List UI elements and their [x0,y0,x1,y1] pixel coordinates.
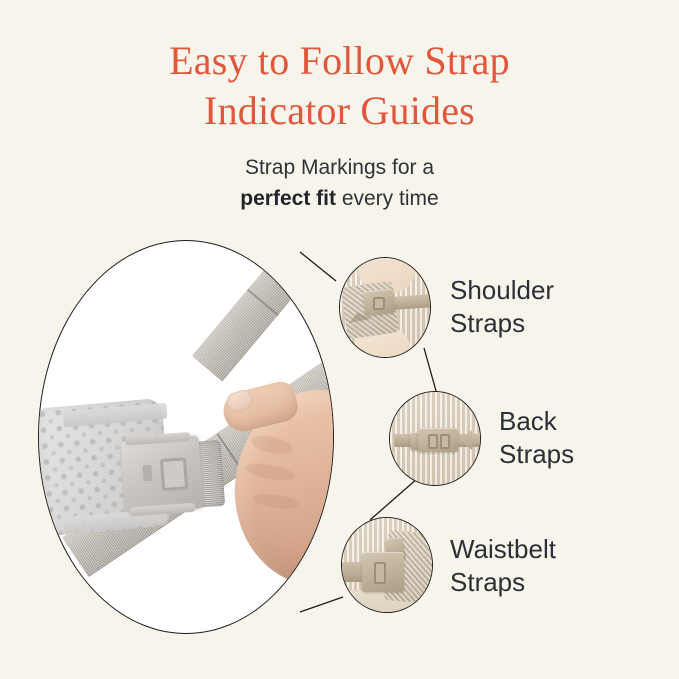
shoulder-detail-buckle-slot [373,297,385,310]
hero-product-photo [38,240,334,634]
callout-label-waistbelt-line1: Waistbelt [450,534,556,564]
page-subtitle-emphasis: perfect fit [240,187,336,210]
strap-webbing-upper [192,241,333,382]
side-release-buckle [121,434,204,513]
page-subtitle-line1: Strap Markings for a [245,156,434,179]
page-subtitle-line2-rest: every time [336,187,439,210]
callout-label-shoulder: Shoulder Straps [450,274,554,340]
page-title: Easy to Follow Strap Indicator Guides [0,36,679,136]
detail-circle-shoulder [339,257,431,358]
callout-label-back: Back Straps [499,405,574,471]
back-detail-buckle [418,428,458,452]
page-subtitle: Strap Markings for a perfect fit every t… [0,152,679,214]
buckle-notch [142,465,152,482]
promo-graphic: Easy to Follow Strap Indicator Guides St… [0,0,679,679]
callout-label-shoulder-line1: Shoulder [450,275,554,305]
back-detail-buckle-slot-2 [440,434,450,449]
page-subtitle-line2: perfect fit every time [0,183,679,214]
detail-circle-back [389,391,481,486]
page-title-line2: Indicator Guides [0,86,679,136]
callout-label-back-line1: Back [499,406,557,436]
callout-label-back-line2: Straps [499,438,574,471]
callout-label-waistbelt-line2: Straps [450,566,556,599]
buckle-slot [160,457,188,491]
callout-label-waistbelt: Waistbelt Straps [450,533,556,599]
back-detail-buckle-slot-1 [428,434,438,449]
detail-circle-waistbelt [341,517,433,613]
page-title-line1: Easy to Follow Strap [169,38,510,83]
callout-label-shoulder-line2: Straps [450,307,554,340]
hero-photo-inner [39,241,333,633]
waistbelt-detail-buckle-slot [374,562,386,584]
